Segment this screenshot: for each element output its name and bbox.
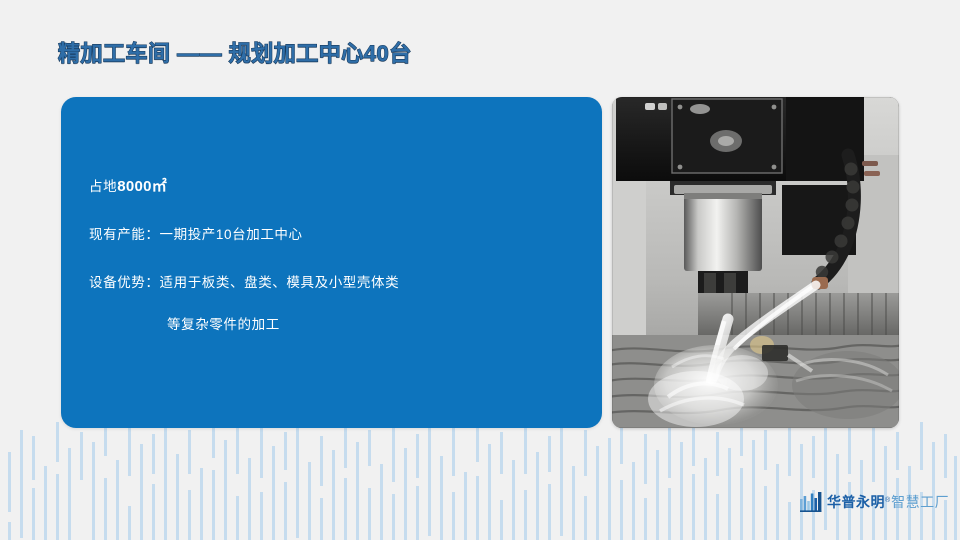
decorative-bar [776, 464, 779, 540]
decorative-bar [476, 424, 479, 462]
decorative-bar [416, 434, 419, 478]
decorative-bar [152, 484, 155, 540]
info-panel: 占地8000㎡ 现有产能：一期投产10台加工中心 设备优势：适用于板类、盘类、模… [61, 97, 602, 428]
decorative-bar [728, 448, 731, 540]
decorative-bar [954, 456, 957, 540]
decorative-bar [716, 432, 719, 476]
brand-logo: 华普永明 ® 智慧工厂 [800, 490, 949, 512]
decorative-bar [608, 438, 611, 540]
panel-line-advantage-continued: 等复杂零件的加工 [167, 318, 280, 333]
decorative-bar [596, 446, 599, 540]
decorative-bar [704, 458, 707, 540]
decorative-bar [164, 420, 167, 540]
decorative-bar [320, 436, 323, 486]
decorative-bar [176, 454, 179, 540]
decorative-bar [392, 494, 395, 540]
decorative-bar [524, 420, 527, 474]
decorative-bar [236, 428, 239, 474]
decorative-bar [224, 440, 227, 540]
decorative-bar [500, 432, 503, 474]
decorative-bar [356, 442, 359, 540]
decorative-bar [668, 420, 671, 478]
decorative-bar [128, 424, 131, 476]
decorative-bar [872, 426, 875, 482]
decorative-bar [284, 432, 287, 470]
decorative-bar [896, 432, 899, 470]
decorative-bar [512, 460, 515, 540]
area-value: 8000㎡ [117, 178, 167, 195]
decorative-bar [44, 466, 47, 540]
decorative-bar [368, 488, 371, 540]
building-bars-icon [800, 492, 822, 512]
decorative-bar [788, 424, 791, 476]
decorative-bar [20, 430, 23, 538]
decorative-bar [752, 440, 755, 540]
decorative-bar [488, 444, 491, 540]
logo-company-name: 华普永明 [827, 492, 885, 512]
decorative-bar [692, 474, 695, 540]
decorative-bar [260, 422, 263, 478]
decorative-bar [560, 422, 563, 536]
decorative-bar [8, 522, 11, 540]
decorative-bar [80, 432, 83, 480]
logo-tagline: 智慧工厂 [891, 492, 949, 512]
decorative-bar [548, 484, 551, 540]
decorative-bar [68, 448, 71, 540]
decorative-bar [212, 424, 215, 458]
decorative-bar [620, 424, 623, 464]
decorative-bar [920, 422, 923, 470]
panel-line-capacity: 现有产能：一期投产10台加工中心 [89, 228, 303, 243]
decorative-bar [392, 422, 395, 482]
photo-artwork [612, 97, 899, 428]
area-label: 占地 [89, 179, 117, 194]
decorative-bar [644, 498, 647, 540]
decorative-bar [32, 436, 35, 480]
decorative-bar [464, 472, 467, 540]
decorative-bar [584, 496, 587, 540]
decorative-bar [332, 450, 335, 540]
decorative-bar [548, 436, 551, 472]
decorative-bar [200, 468, 203, 540]
logo-trademark-mark: ® [885, 497, 890, 504]
decorative-bar [284, 482, 287, 540]
decorative-bar [380, 464, 383, 540]
decorative-bar [56, 474, 59, 540]
decorative-bar [476, 476, 479, 540]
decorative-bar [716, 494, 719, 540]
decorative-bar [416, 486, 419, 540]
decorative-bar [536, 452, 539, 540]
decorative-bar-band [0, 418, 960, 540]
decorative-bar [32, 488, 35, 540]
decorative-bar [620, 480, 623, 540]
decorative-bar [944, 434, 947, 478]
decorative-bar [344, 426, 347, 468]
decorative-bar [272, 446, 275, 540]
decorative-bar [812, 436, 815, 478]
panel-line-advantage: 设备优势：适用于板类、盘类、模具及小型壳体类 [89, 276, 399, 291]
decorative-bar [8, 452, 11, 512]
decorative-bar [764, 430, 767, 470]
decorative-bar [188, 490, 191, 540]
decorative-bar [92, 442, 95, 540]
decorative-bar [404, 448, 407, 540]
decorative-bar [452, 428, 455, 476]
decorative-bar [848, 428, 851, 474]
decorative-bar [104, 426, 107, 456]
decorative-bar [368, 430, 371, 466]
decorative-bar [308, 462, 311, 540]
decorative-bar [740, 468, 743, 540]
decorative-bar [428, 420, 431, 536]
decorative-bar [140, 444, 143, 540]
decorative-bar [212, 470, 215, 540]
panel-line-area: 占地8000㎡ [89, 179, 167, 196]
decorative-bar [584, 430, 587, 476]
decorative-bar [116, 460, 119, 540]
decorative-bar [824, 420, 827, 530]
decorative-bar [248, 458, 251, 540]
decorative-bar [524, 490, 527, 540]
decorative-bar [500, 500, 503, 540]
decorative-bar [680, 442, 683, 540]
machining-center-photo [612, 97, 899, 428]
decorative-bar [668, 488, 671, 540]
decorative-bar [56, 422, 59, 462]
decorative-bar [692, 428, 695, 466]
decorative-bar [104, 478, 107, 540]
decorative-bar [656, 450, 659, 540]
logo-text: 华普永明 ® 智慧工厂 [827, 492, 949, 512]
decorative-bar [788, 502, 791, 540]
decorative-bar [296, 420, 299, 538]
decorative-bar [260, 492, 263, 540]
page-title: 精加工车间 —— 规划加工中心40台 [58, 36, 412, 68]
decorative-bar [236, 496, 239, 540]
decorative-bar [632, 462, 635, 540]
decorative-bar [452, 492, 455, 540]
decorative-bar [152, 434, 155, 474]
decorative-bar [440, 456, 443, 540]
decorative-bar [188, 430, 191, 474]
decorative-bar [320, 498, 323, 540]
decorative-bar [572, 466, 575, 540]
decorative-bar [344, 478, 347, 540]
decorative-bar [644, 434, 647, 484]
slide-canvas: 精加工车间 —— 规划加工中心40台 占地8000㎡ 现有产能：一期投产10台加… [0, 0, 960, 540]
decorative-bar [128, 506, 131, 540]
decorative-bar [764, 486, 767, 540]
